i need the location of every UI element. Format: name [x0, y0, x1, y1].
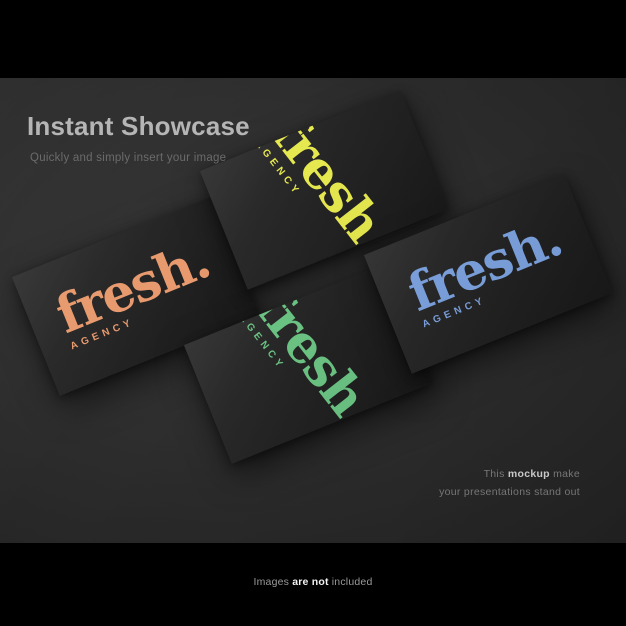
tagline-prefix: This — [484, 468, 508, 480]
tagline-emphasis: mockup — [508, 468, 550, 480]
footer-suffix: included — [329, 576, 373, 588]
headings-block: Instant Showcase Quickly and simply inse… — [27, 113, 250, 164]
mockup-preview-canvas: Instant Showcase Quickly and simply inse… — [0, 0, 626, 626]
letterbox-bottom: Images are not included — [0, 543, 626, 626]
footer-prefix: Images — [253, 576, 292, 588]
footer-emphasis: are not — [292, 576, 328, 588]
tagline-line-2: your presentations stand out — [439, 483, 580, 501]
tagline-line-1: This mockup make — [439, 465, 580, 483]
tagline-suffix: make — [550, 468, 580, 480]
page-title: Instant Showcase — [27, 113, 250, 140]
footer-disclaimer: Images are not included — [0, 576, 626, 588]
letterbox-top — [0, 0, 626, 78]
page-subtitle: Quickly and simply insert your image — [30, 152, 250, 164]
scene-background: Instant Showcase Quickly and simply inse… — [0, 78, 626, 543]
tagline-block: This mockup make your presentations stan… — [439, 465, 580, 502]
